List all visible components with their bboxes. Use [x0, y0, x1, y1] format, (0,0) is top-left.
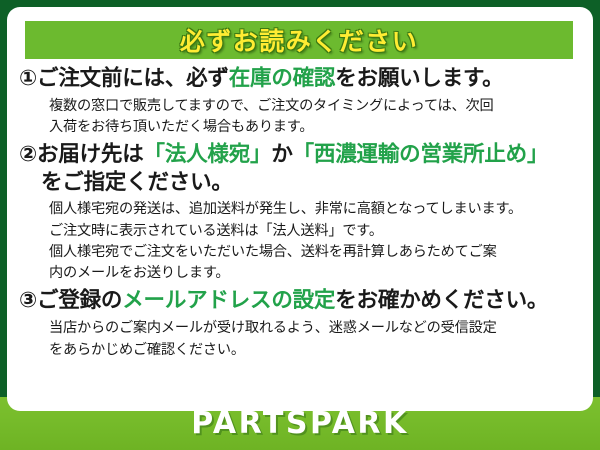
notice-item-2-headline: ②お届け先は「法人様宛」か「西濃運輸の営業所止め」をご指定ください。: [19, 141, 581, 197]
banner-title: 必ずお読みください: [180, 22, 419, 58]
notice-item-3-body: 当店からのご案内メールが受け取れるよう、迷惑メールなどの受信設定 をあらかじめご…: [49, 318, 581, 361]
notice-card: 必ずお読みください ①ご注文前には、必ず在庫の確認をお願いします。 複数の窓口で…: [7, 7, 593, 411]
notice-item-3: ③ご登録のメールアドレスの設定をお確かめください。 当店からのご案内メールが受け…: [19, 287, 581, 360]
brand-logo-partspark: PARTSPARK: [191, 406, 409, 441]
notice-item-1-headline-post: をお願いします。: [335, 66, 503, 91]
notice-banner: PARTSPARK 必ずお読みください ①ご注文前には、必ず在庫の確認をお願いし…: [0, 0, 600, 450]
notice-item-2-headline-mid: か: [271, 142, 292, 167]
notice-item-1-headline-highlight: 在庫の確認: [229, 66, 336, 91]
notice-item-2-headline-pre: お届け先は: [37, 142, 144, 167]
notice-content: ①ご注文前には、必ず在庫の確認をお願いします。 複数の窓口で販売してますので、ご…: [7, 65, 593, 364]
notice-item-2-headline-post: をご指定ください。: [41, 169, 233, 197]
notice-item-3-headline: ③ご登録のメールアドレスの設定をお確かめください。: [19, 287, 581, 316]
notice-item-2: ②お届け先は「法人様宛」か「西濃運輸の営業所止め」をご指定ください。 個人様宅宛…: [19, 141, 581, 284]
title-bar: 必ずお読みください: [25, 21, 573, 59]
notice-item-1-headline-pre: ご注文前には、必ず: [37, 66, 229, 91]
notice-item-1-headline: ①ご注文前には、必ず在庫の確認をお願いします。: [19, 65, 581, 94]
notice-item-3-headline-post: をお確かめください。: [335, 288, 548, 313]
notice-item-2-headline-highlight: 「法人様宛」: [144, 142, 272, 167]
notice-item-2-body: 個人様宅宛の発送は、追加送料が発生し、非常に高額となってしまいます。 ご注文時に…: [49, 199, 581, 284]
notice-item-3-headline-highlight: メールアドレスの設定: [122, 288, 335, 313]
notice-item-2-headline-highlight-2: 「西濃運輸の営業所止め」: [293, 142, 549, 167]
notice-item-3-headline-pre: ご登録の: [37, 288, 122, 313]
notice-item-2-number: ②: [19, 142, 37, 167]
notice-item-3-number: ③: [19, 288, 37, 313]
notice-item-1-number: ①: [19, 66, 37, 91]
notice-item-1: ①ご注文前には、必ず在庫の確認をお願いします。 複数の窓口で販売してますので、ご…: [19, 65, 581, 138]
notice-item-1-body: 複数の窓口で販売してますので、ご注文のタイミングによっては、次回 入荷をお待ち頂…: [49, 96, 581, 139]
